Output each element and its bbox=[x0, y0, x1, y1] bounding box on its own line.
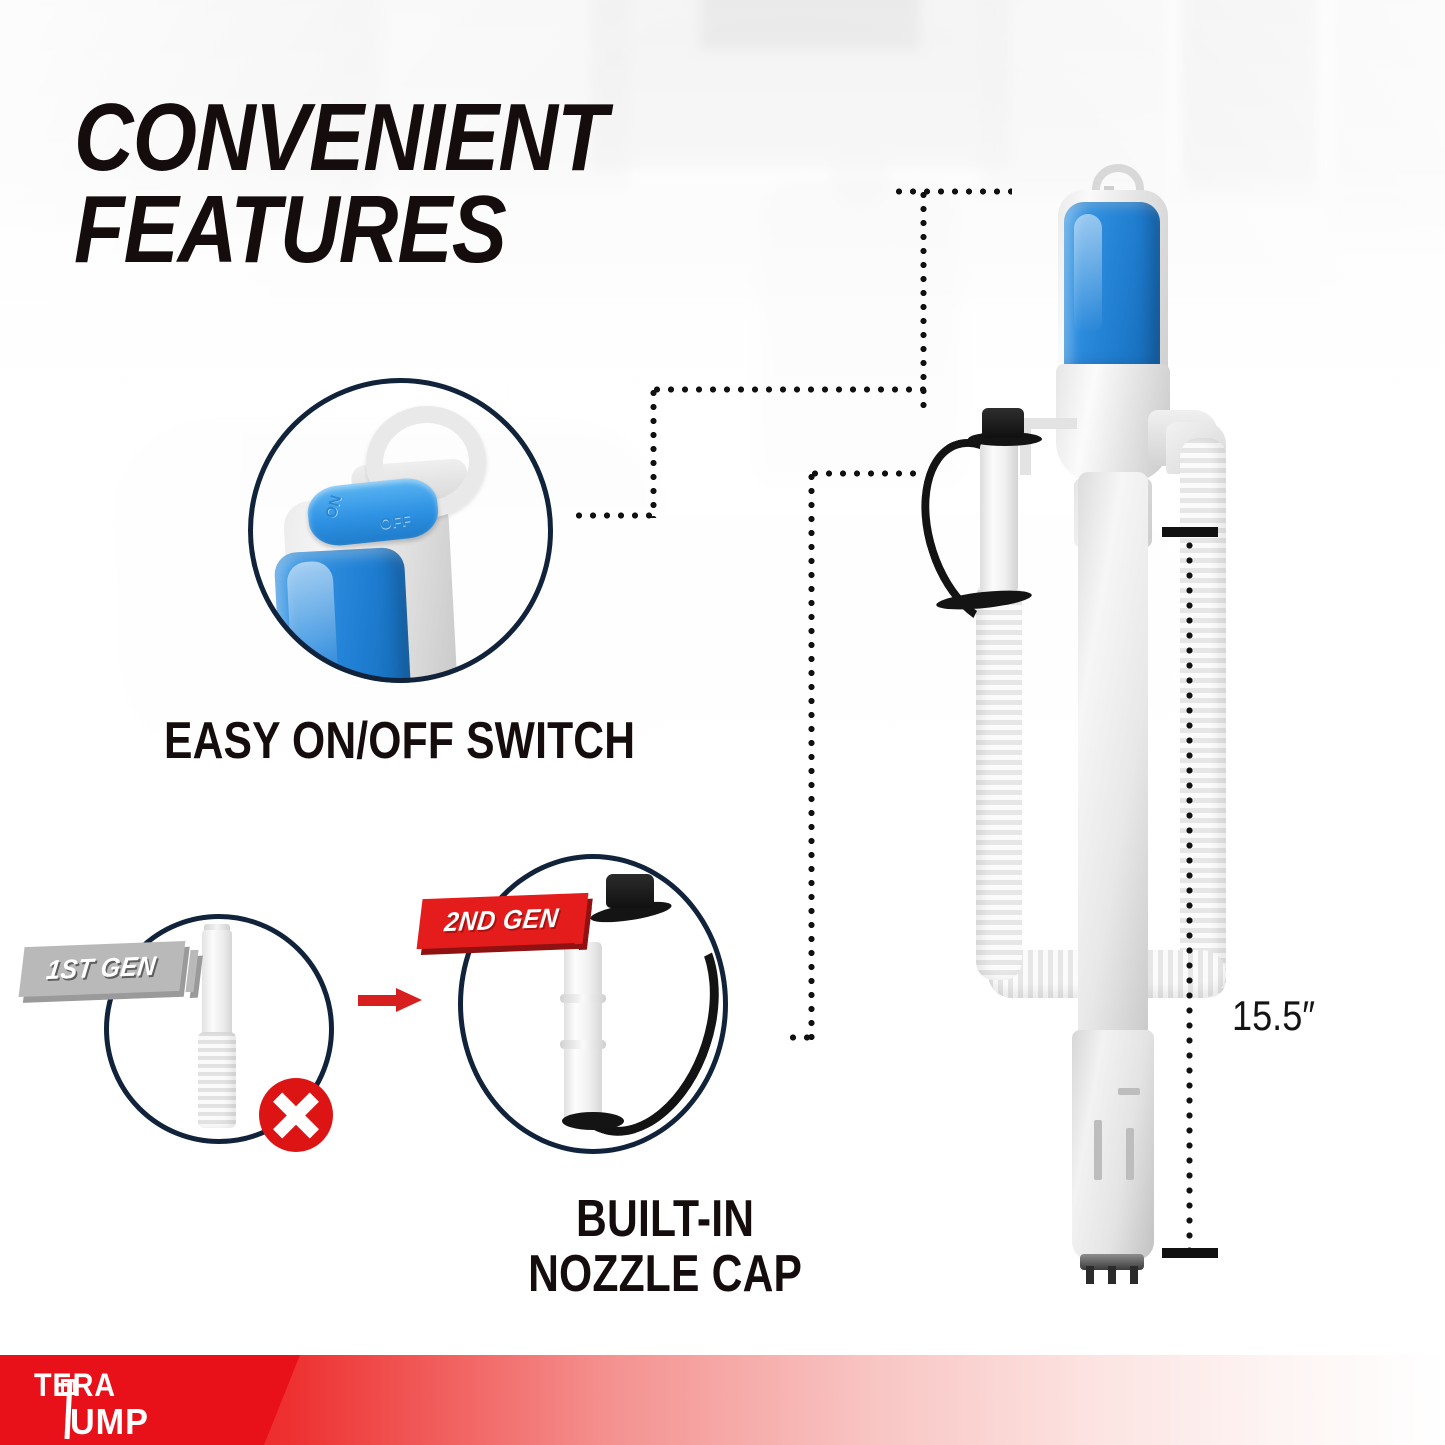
product-image bbox=[880, 160, 1300, 1290]
dimension-value: 15.5″ bbox=[1232, 992, 1315, 1040]
right-arrow-icon bbox=[358, 988, 422, 1012]
feature-switch-circle-outline bbox=[248, 378, 553, 683]
dimension-dotted-line bbox=[1186, 538, 1193, 1248]
badge-2nd-gen-label: 2ND GEN bbox=[443, 903, 560, 938]
badge-2nd-gen: 2ND GEN bbox=[417, 893, 589, 949]
nozzle-cap-icon bbox=[982, 408, 1024, 438]
infographic-canvas: CONVENIENT FEATURES ON OFF EASY ON/OFF S… bbox=[0, 0, 1445, 1445]
x-mark-icon bbox=[259, 1078, 333, 1152]
pump-hook-shape bbox=[1020, 418, 1077, 475]
connector-dot-segment bbox=[808, 470, 815, 1040]
connector-dot-segment bbox=[572, 512, 656, 519]
pump-intake-prongs-shape bbox=[1086, 1266, 1138, 1284]
badge-1st-gen-label: 1ST GEN bbox=[45, 951, 158, 986]
dimension-tick-bottom bbox=[1162, 1248, 1218, 1258]
hose-segment-shape bbox=[976, 580, 1022, 980]
dimension-tick-top bbox=[1162, 527, 1218, 537]
pump-tube-shape bbox=[1078, 472, 1148, 1052]
connector-dot-segment bbox=[786, 1034, 814, 1041]
pump-intake-shape bbox=[1072, 1030, 1154, 1260]
nozzle-tube-shape bbox=[980, 442, 1018, 592]
logo-text-pump: UMP bbox=[70, 1401, 149, 1443]
battery-compartment-shape bbox=[1064, 202, 1160, 370]
feature-switch-label: EASY ON/OFF SWITCH bbox=[164, 714, 635, 769]
connector-dot-segment bbox=[650, 386, 657, 518]
terapump-logo: TERA UMP bbox=[28, 1367, 268, 1435]
badge-1st-gen: 1ST GEN bbox=[19, 941, 186, 997]
feature-nozzle-label: BUILT-IN NOZZLE CAP bbox=[528, 1192, 802, 1302]
page-title: CONVENIENT FEATURES bbox=[74, 92, 607, 276]
footer-bar: TERA UMP bbox=[0, 1355, 1445, 1445]
